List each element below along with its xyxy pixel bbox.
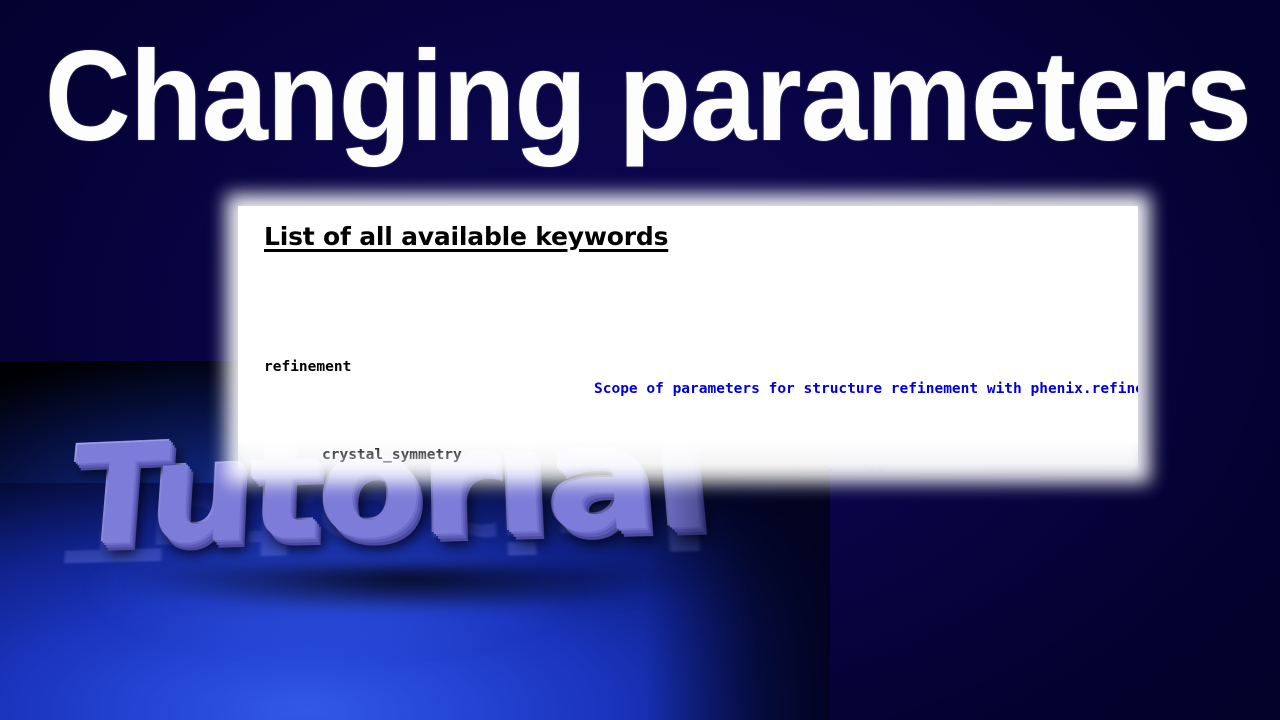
keywords-panel: List of all available keywords refinemen… <box>238 206 1138 471</box>
scope-description: Scope of parameters for structure refine… <box>594 378 1138 400</box>
scope-name: crystal_symmetry <box>322 444 462 466</box>
table-row: crystal_symmetry Scope of space group an… <box>238 422 1138 444</box>
scope-name: refinement <box>264 356 351 378</box>
table-row: refinement Scope of parameters for struc… <box>238 334 1138 356</box>
panel-surface: List of all available keywords refinemen… <box>238 206 1138 471</box>
page-title: Changing parameters <box>45 22 1235 172</box>
slide-root: Changing parameters Tutorial Tutorial Li… <box>0 0 1280 720</box>
scope-description: Scope of space group and unit cell param… <box>590 466 983 471</box>
panel-heading: List of all available keywords <box>264 222 668 251</box>
keyword-listing: refinement Scope of parameters for struc… <box>238 268 1138 471</box>
